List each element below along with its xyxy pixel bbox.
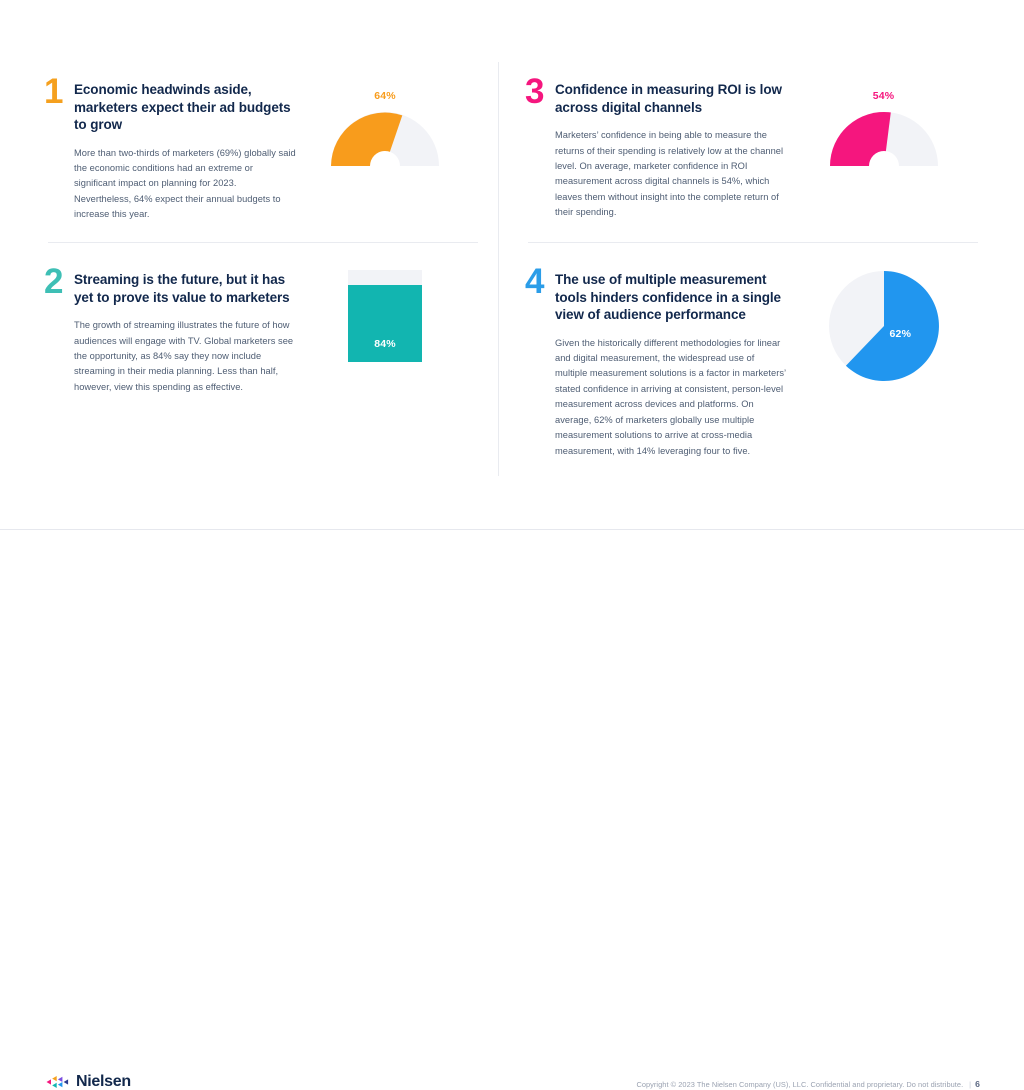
divider-horizontal-right xyxy=(528,242,978,243)
insight-heading-row: 4 The use of multiple measurement tools … xyxy=(525,270,787,324)
gauge-svg xyxy=(825,106,943,168)
insights-grid: 1 Economic headwinds aside, marketers ex… xyxy=(0,55,1024,480)
slide-footer: Nielsen Copyright © 2023 The Nielsen Com… xyxy=(0,530,1024,569)
divider-vertical xyxy=(498,62,499,476)
footer-copyright: Copyright © 2023 The Nielsen Company (US… xyxy=(636,1079,980,1089)
nielsen-wordmark: Nielsen xyxy=(76,1074,131,1090)
insight-number: 1 xyxy=(44,76,74,108)
insight-text-column: 4 The use of multiple measurement tools … xyxy=(525,270,787,459)
copyright-text: Copyright © 2023 The Nielsen Company (US… xyxy=(636,1080,963,1089)
bar-chart-2: 84% xyxy=(348,270,422,362)
divider-horizontal-left xyxy=(48,242,478,243)
gauge-value-label: 54% xyxy=(825,90,943,102)
insight-chart-column: 64% xyxy=(296,80,474,170)
insight-block-4: 4 The use of multiple measurement tools … xyxy=(525,270,980,459)
insight-heading-row: 2 Streaming is the future, but it has ye… xyxy=(44,270,296,306)
nielsen-mark-icon xyxy=(46,1075,69,1089)
insight-chart-column: 84% xyxy=(296,270,474,362)
bar-value-fill xyxy=(348,285,422,362)
pie-value-label: 62% xyxy=(890,328,912,340)
insight-body: More than two-thirds of marketers (69%) … xyxy=(44,134,296,223)
insight-number: 2 xyxy=(44,266,74,298)
insight-number: 3 xyxy=(525,76,555,108)
insight-number: 4 xyxy=(525,266,555,298)
insight-title: Confidence in measuring ROI is low acros… xyxy=(555,80,787,116)
pie-svg xyxy=(828,270,940,382)
nielsen-logo: Nielsen xyxy=(46,1074,131,1090)
gauge-chart-1: 64% xyxy=(326,80,444,170)
insight-title: Streaming is the future, but it has yet … xyxy=(74,270,296,306)
insight-heading-row: 3 Confidence in measuring ROI is low acr… xyxy=(525,80,787,116)
gauge-value-label: 64% xyxy=(326,90,444,102)
insight-body: Marketers’ confidence in being able to m… xyxy=(525,116,787,221)
insight-text-column: 1 Economic headwinds aside, marketers ex… xyxy=(44,80,296,223)
bar-value-label: 84% xyxy=(348,338,422,350)
insight-title: Economic headwinds aside, marketers expe… xyxy=(74,80,296,134)
insight-text-column: 3 Confidence in measuring ROI is low acr… xyxy=(525,80,787,221)
insight-text-column: 2 Streaming is the future, but it has ye… xyxy=(44,270,296,395)
insight-body: Given the historically different methodo… xyxy=(525,324,787,459)
page-number: 6 xyxy=(975,1079,980,1089)
gauge-chart-3: 54% xyxy=(825,80,943,170)
insight-chart-column: 62% xyxy=(787,270,980,382)
insight-title: The use of multiple measurement tools hi… xyxy=(555,270,787,324)
pie-chart-4: 62% xyxy=(828,270,940,382)
insight-block-3: 3 Confidence in measuring ROI is low acr… xyxy=(525,80,980,221)
insight-heading-row: 1 Economic headwinds aside, marketers ex… xyxy=(44,80,296,134)
insight-body: The growth of streaming illustrates the … xyxy=(44,306,296,395)
insight-chart-column: 54% xyxy=(787,80,980,170)
footer-separator: | xyxy=(969,1080,971,1089)
insight-block-2: 2 Streaming is the future, but it has ye… xyxy=(44,270,474,395)
slide-canvas: 1 Economic headwinds aside, marketers ex… xyxy=(0,0,1024,569)
gauge-svg xyxy=(326,106,444,168)
insight-block-1: 1 Economic headwinds aside, marketers ex… xyxy=(44,80,474,223)
